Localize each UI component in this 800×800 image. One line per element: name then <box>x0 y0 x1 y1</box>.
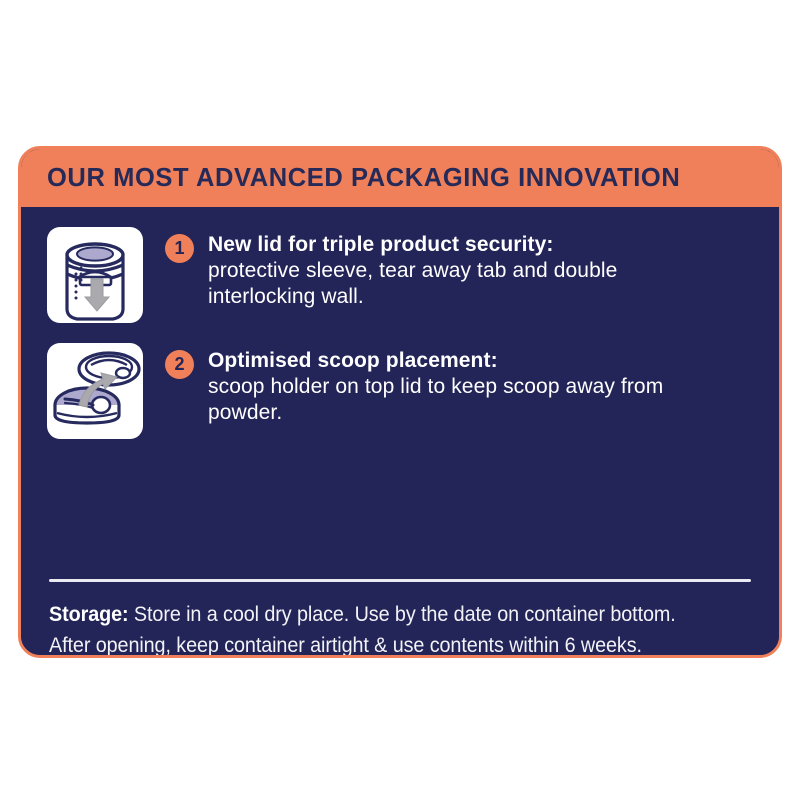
packaging-innovation-card: OUR MOST ADVANCED PACKAGING INNOVATION <box>18 146 782 658</box>
feature-copy: Optimised scoop placement: scoop holder … <box>208 348 713 427</box>
scoop-placement-icon <box>47 343 143 439</box>
lid-triple-security-icon <box>47 227 143 323</box>
feature-text: 2 Optimised scoop placement: scoop holde… <box>165 343 713 427</box>
feature-icon-tile <box>47 343 143 439</box>
storage-line-1: Store in a cool dry place. Use by the da… <box>129 602 676 626</box>
feature-list: 1 New lid for triple product security: p… <box>21 227 779 459</box>
storage-note: Storage: Store in a cool dry place. Use … <box>49 599 699 658</box>
list-item: 2 Optimised scoop placement: scoop holde… <box>21 343 779 439</box>
storage-label: Storage: <box>49 602 129 626</box>
section-divider <box>49 579 751 582</box>
feature-text: 1 New lid for triple product security: p… <box>165 227 713 311</box>
feature-description: protective sleeve, tear away tab and dou… <box>208 258 713 312</box>
infographic-panel: OUR MOST ADVANCED PACKAGING INNOVATION <box>0 0 800 800</box>
feature-copy: New lid for triple product security: pro… <box>208 232 713 311</box>
feature-description: scoop holder on top lid to keep scoop aw… <box>208 374 713 428</box>
page-title: OUR MOST ADVANCED PACKAGING INNOVATION <box>47 164 680 193</box>
feature-headline: Optimised scoop placement: <box>208 348 713 374</box>
feature-headline: New lid for triple product security: <box>208 232 713 258</box>
card-body: 1 New lid for triple product security: p… <box>21 207 779 655</box>
feature-number-badge: 2 <box>165 350 194 379</box>
card-header-band: OUR MOST ADVANCED PACKAGING INNOVATION <box>21 149 779 207</box>
storage-line-2: After opening, keep container airtight &… <box>49 633 642 657</box>
feature-icon-tile <box>47 227 143 323</box>
list-item: 1 New lid for triple product security: p… <box>21 227 779 323</box>
feature-number-badge: 1 <box>165 234 194 263</box>
